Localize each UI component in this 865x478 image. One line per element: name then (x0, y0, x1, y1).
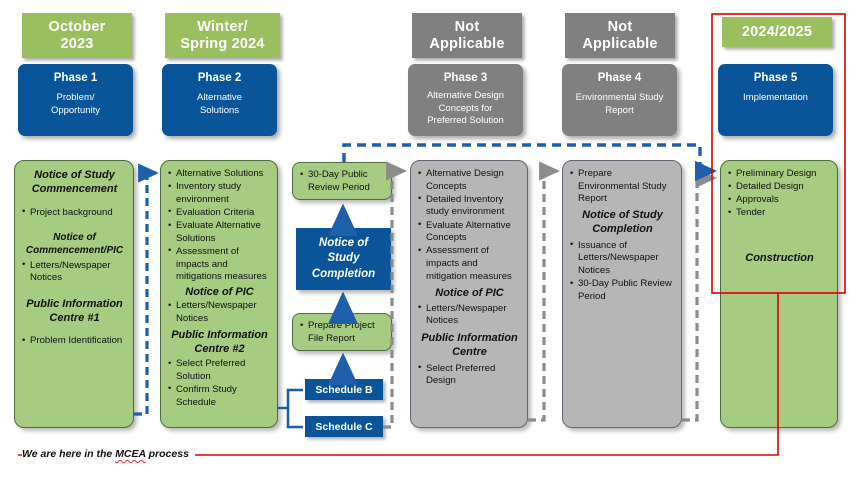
date-banner-phase-5: 2024/2025 (722, 17, 832, 47)
list-item: Inventory study environment (168, 181, 271, 206)
list-item: Prepare Environmental Study Report (570, 168, 675, 206)
column-note: Public Information Centre (418, 331, 521, 360)
date-banner-line1: Not (582, 19, 657, 36)
phase-box-3: Phase 3 Alternative Design Concepts for … (408, 64, 523, 136)
list-item: Letters/Newspaper Notices (168, 300, 271, 325)
column-note: Public Information Centre #1 (22, 297, 127, 326)
list-item: Approvals (728, 194, 831, 207)
connector-phase1-to-phase2 (134, 173, 156, 414)
review-period-label: 30-Day Public Review Period (300, 169, 386, 194)
phase-subtitle: Environmental Study Report (568, 92, 671, 117)
schedule-b-label: Schedule B (315, 384, 372, 396)
column-note: Notice of PIC (418, 286, 521, 300)
list-item: Select Preferred Solution (168, 358, 271, 383)
column-note: Public Information Centre #2 (168, 328, 271, 357)
prepare-project-file-report-box: Prepare Project File Report (292, 313, 392, 351)
list-item: Select Preferred Design (418, 363, 521, 388)
list-item: Detailed Design (728, 181, 831, 194)
column-note: Construction (728, 251, 831, 265)
list-item: Assessment of impacts and mitigations me… (168, 246, 271, 284)
date-banner-line1: Not (429, 19, 504, 36)
date-banner-phase-2: Winter/ Spring 2024 (165, 13, 280, 58)
phase-box-2: Phase 2 Alternative Solutions (162, 64, 277, 136)
phase-title: Phase 5 (724, 71, 827, 85)
phase-box-5: Phase 5 Implementation (718, 64, 833, 136)
date-banner-line1: Winter/ (180, 19, 264, 36)
we-are-here-label: We are here in the MCEA process (22, 448, 195, 460)
we-are-here-prefix: We are here in the (22, 448, 115, 460)
list-item: Alternative Design Concepts (418, 168, 521, 193)
list-item: Preliminary Design (728, 168, 831, 181)
date-banner-phase-3: Not Applicable (412, 13, 522, 58)
list-item: Tender (728, 207, 831, 220)
connector-schedulec-to-phase3 (383, 171, 404, 427)
list-item: Alternative Solutions (168, 168, 271, 181)
list-item: Evaluate Alternative Solutions (168, 220, 271, 245)
date-banner-line2: Applicable (429, 36, 504, 53)
phase-subtitle: Alternative Design Concepts for Preferre… (414, 90, 517, 127)
column-note: Notice of PIC (168, 285, 271, 299)
notice-label: Notice of Study Completion (312, 236, 375, 283)
list-item: Project background (22, 207, 127, 220)
phase-title: Phase 4 (568, 71, 671, 85)
phase-subtitle: Implementation (724, 92, 827, 104)
column-heading: Notice of Study Commencement (22, 168, 127, 197)
column-note: Notice of Study Completion (570, 208, 675, 237)
column-phase-5: Preliminary Design Detailed Design Appro… (720, 160, 838, 428)
connector-phase3-to-phase4 (528, 171, 557, 420)
list-item: Evaluation Criteria (168, 207, 271, 220)
review-period-box: 30-Day Public Review Period (292, 162, 392, 200)
connector-phase4-to-phase5 (682, 178, 714, 420)
list-item: Assessment of impacts and mitigation mea… (418, 245, 521, 283)
column-phase-4: Prepare Environmental Study Report Notic… (562, 160, 682, 428)
we-are-here-suffix: process (146, 448, 189, 460)
list-item: Issuance of Letters/Newspaper Notices (570, 240, 675, 278)
date-banner-phase-1: October 2023 (22, 13, 132, 58)
notice-of-study-completion-box: Notice of Study Completion (296, 228, 391, 290)
date-banner-line1: 2024/2025 (742, 24, 812, 41)
list-item: 30-Day Public Review Period (570, 278, 675, 303)
column-phase-2: Alternative Solutions Inventory study en… (160, 160, 278, 428)
schedule-c-label: Schedule C (315, 421, 372, 433)
column-note: Notice of Commencement/PIC (22, 231, 127, 257)
date-banner-line2: Applicable (582, 36, 657, 53)
list-item: Letters/Newspaper Notices (418, 303, 521, 328)
phase-subtitle: Alternative Solutions (168, 92, 271, 117)
phase-title: Phase 2 (168, 71, 271, 85)
phase-title: Phase 3 (414, 71, 517, 85)
connector-phase2-to-schedules (278, 390, 303, 427)
date-banner-line2: Spring 2024 (180, 36, 264, 53)
mcea-process-diagram: October 2023 Winter/ Spring 2024 Not App… (0, 0, 865, 478)
list-item: Letters/Newspaper Notices (22, 260, 127, 285)
schedule-c-box: Schedule C (305, 416, 383, 437)
list-item: Detailed Inventory study environment (418, 194, 521, 219)
date-banner-phase-4: Not Applicable (565, 13, 675, 58)
we-are-here-misspelled: MCEA (115, 448, 146, 460)
column-phase-1: Notice of Study Commencement Project bac… (14, 160, 134, 428)
date-banner-line1: October (49, 19, 106, 36)
schedule-b-box: Schedule B (305, 379, 383, 400)
phase-title: Phase 1 (24, 71, 127, 85)
prepare-label: Prepare Project File Report (300, 320, 386, 345)
list-item: Problem Identification (22, 335, 127, 348)
phase-subtitle: Problem/ Opportunity (24, 92, 127, 117)
date-banner-line2: 2023 (49, 36, 106, 53)
phase-box-4: Phase 4 Environmental Study Report (562, 64, 677, 136)
column-phase-3: Alternative Design Concepts Detailed Inv… (410, 160, 528, 428)
list-item: Evaluate Alternative Concepts (418, 220, 521, 245)
phase-box-1: Phase 1 Problem/ Opportunity (18, 64, 133, 136)
list-item: Confirm Study Schedule (168, 384, 271, 409)
